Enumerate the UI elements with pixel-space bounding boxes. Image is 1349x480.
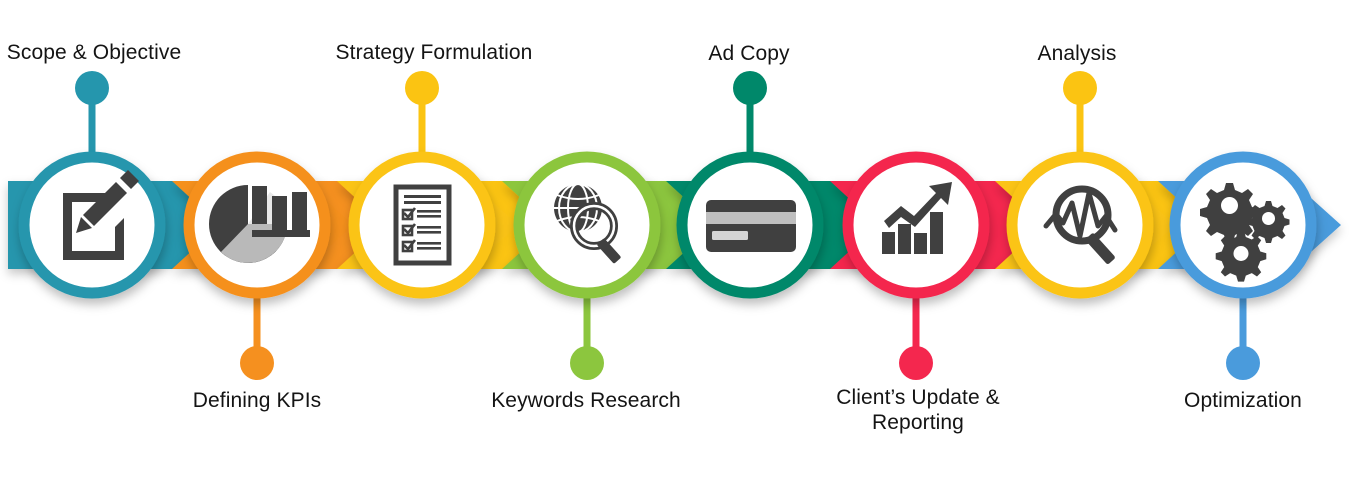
- step-label-keywords-research[interactable]: Keywords Research: [491, 388, 681, 413]
- step-label-defining-kpis[interactable]: Defining KPIs: [193, 388, 322, 413]
- step-label-analysis[interactable]: Analysis: [1038, 41, 1117, 66]
- process-flow-diagram: Scope & Objective Defining KPIs Strategy…: [0, 0, 1349, 480]
- step-label-strategy-formulation[interactable]: Strategy Formulation: [336, 40, 533, 65]
- step-label-scope-objective[interactable]: Scope & Objective: [7, 40, 181, 65]
- step-label-clients-update-reporting[interactable]: Client’s Update & Reporting: [836, 385, 1000, 435]
- step-label-optimization[interactable]: Optimization: [1184, 388, 1302, 413]
- step-label-ad-copy[interactable]: Ad Copy: [708, 41, 789, 66]
- step-labels: Scope & Objective Defining KPIs Strategy…: [0, 0, 1349, 480]
